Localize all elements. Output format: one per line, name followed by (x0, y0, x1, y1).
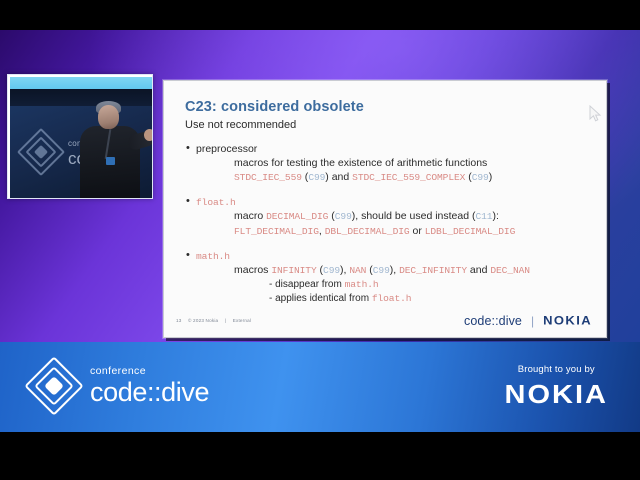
slide-code-run: C99 (323, 265, 340, 276)
slide-code-run: float.h (372, 293, 412, 304)
slide-bullet-heading: preprocessor (185, 143, 593, 156)
slide-text-run: macro (234, 210, 266, 222)
slide-bullet-heading: float.h (185, 196, 593, 209)
slide-code-run: STDC_IEC_559_COMPLEX (352, 172, 465, 183)
slide-text-run: - disappear from (269, 279, 345, 290)
slide-text-run: ) and (325, 171, 352, 183)
slide-text-run: macros for testing the existence of arit… (234, 157, 487, 169)
banner-codedive-lockup: conference code::dive (30, 362, 209, 410)
mouse-cursor-icon (589, 105, 602, 123)
slide-code-run: C11 (475, 211, 492, 222)
slide-code-run: C99 (472, 172, 489, 183)
slide-code-run: C99 (373, 265, 390, 276)
slide-brand-lockup: code::dive | NOKIA (464, 313, 592, 328)
speaker-webcam-pip[interactable]: conference co (7, 74, 153, 199)
slide-code-run: LDBL_DECIMAL_DIG (425, 226, 516, 237)
slide-text-run: and (467, 264, 490, 276)
letterbox-bottom (0, 432, 640, 480)
banner-codedive-label: code::dive (90, 379, 209, 406)
slide-bullet-heading: math.h (185, 250, 593, 263)
slide-code-run: INFINITY (271, 265, 316, 276)
slide-text-run: or (410, 225, 425, 237)
speaker-head (98, 105, 119, 129)
slide-brand-separator: | (531, 314, 534, 328)
slide-text-run: macros (234, 264, 271, 276)
slide-code-run: DEC_INFINITY (399, 265, 467, 276)
slide-code-run: math.h (345, 279, 379, 290)
slide-bullet-line: STDC_IEC_559 (C99) and STDC_IEC_559_COMP… (185, 170, 593, 185)
slide-text-run: ), should be used instead ( (352, 210, 476, 222)
slide-text-run: ), (340, 264, 349, 276)
slide-bullet-line: - applies identical from float.h (185, 292, 593, 306)
slide-bullet-line: macro DECIMAL_DIG (C99), should be used … (185, 209, 593, 224)
speaker-hand (144, 129, 152, 141)
slide-bullet-line: - disappear from math.h (185, 278, 593, 292)
slide-classification: External (233, 318, 251, 323)
slide-footer: 13 © 2023 Nokia | External code::dive | … (164, 313, 606, 333)
slide-footer-meta: 13 © 2023 Nokia | External (176, 318, 256, 323)
slide-code-run: C99 (335, 211, 352, 222)
slide-code-run: FLT_DECIMAL_DIG (234, 226, 319, 237)
codedive-logo-icon (30, 362, 78, 410)
slide-code-run: STDC_IEC_559 (234, 172, 302, 183)
slide-bullet-label: math.h (196, 251, 230, 262)
slide-bullet-label: float.h (196, 197, 236, 208)
slide-code-run: NAN (349, 265, 366, 276)
screen-capture: conference co C23: considered obsolete U… (0, 0, 640, 480)
room-codedive-logo-icon (22, 133, 62, 173)
banner-conference-label: conference (90, 366, 209, 377)
slide-bullet-line: FLT_DECIMAL_DIG, DBL_DECIMAL_DIG or LDBL… (185, 224, 593, 239)
webcam-titlebar (10, 77, 152, 89)
slide-text-run: ) (489, 171, 493, 183)
slide-text-run: - applies identical from (269, 293, 372, 304)
speaker-badge (106, 157, 115, 165)
sponsor-banner: conference code::dive Brought to you by … (0, 342, 640, 432)
slide-bullet-line: macros INFINITY (C99), NAN (C99), DEC_IN… (185, 263, 593, 278)
slide-title: C23: considered obsolete (185, 99, 364, 115)
slide-brand-codedive: code::dive (464, 314, 522, 328)
slide-bullet-block: float.hmacro DECIMAL_DIG (C99), should b… (185, 196, 593, 239)
banner-codedive-text: conference code::dive (90, 366, 209, 407)
banner-brought-label: Brought to you by (505, 364, 608, 375)
slide-code-run: DBL_DECIMAL_DIG (325, 226, 410, 237)
slide-bullet-block: math.hmacros INFINITY (C99), NAN (C99), … (185, 250, 593, 306)
slide-bullet-line: macros for testing the existence of arit… (185, 156, 593, 170)
slide-bullet-label: preprocessor (196, 143, 257, 155)
slide-text-run: ): (492, 210, 498, 222)
banner-nokia-lockup: Brought to you by NOKIA (505, 364, 608, 412)
slide-code-run: DEC_NAN (490, 265, 530, 276)
slide-code-run: DECIMAL_DIG (266, 211, 328, 222)
slide-footer-separator: | (225, 318, 226, 323)
slide-bullet-block: preprocessormacros for testing the exist… (185, 143, 593, 185)
slide-copyright: © 2023 Nokia (188, 318, 218, 323)
letterbox-top (0, 0, 640, 30)
slide-page-number: 13 (176, 318, 182, 323)
room-screen-top (10, 89, 152, 106)
slide-body: preprocessormacros for testing the exist… (185, 143, 593, 317)
webcam-video-feed: conference co (10, 89, 152, 198)
slide-brand-nokia-logo: NOKIA (543, 314, 592, 328)
presentation-slide[interactable]: C23: considered obsolete Use not recomme… (163, 80, 607, 338)
banner-nokia-logo: NOKIA (505, 381, 608, 410)
slide-text-run: ), (390, 264, 399, 276)
slide-subtitle: Use not recommended (185, 119, 296, 131)
slide-code-run: C99 (308, 172, 325, 183)
